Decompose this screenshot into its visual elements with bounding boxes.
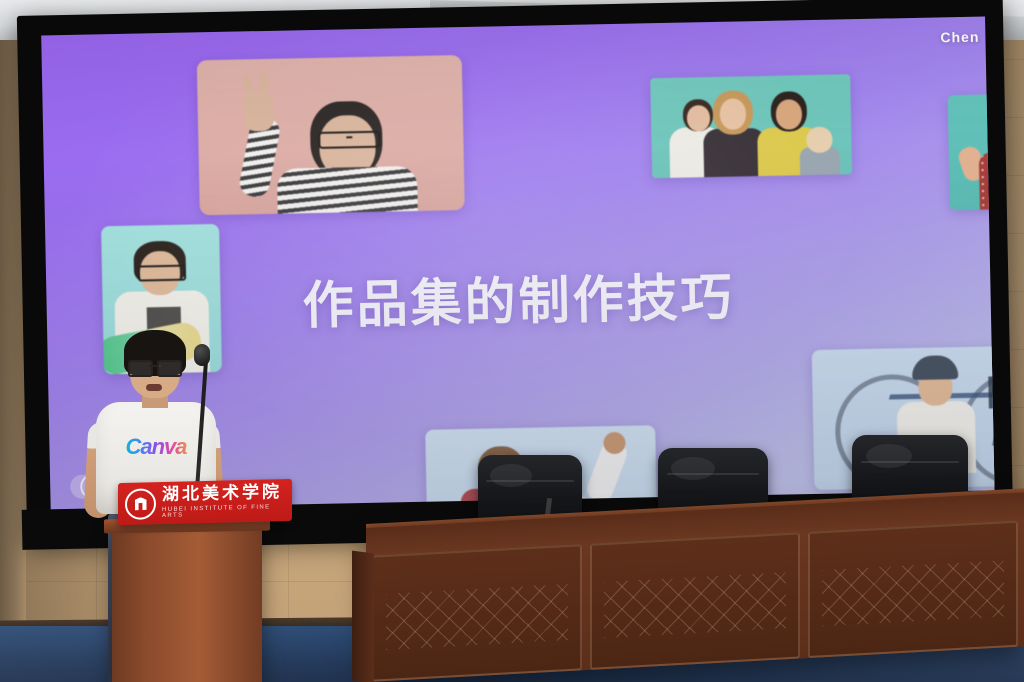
microphone-icon	[194, 344, 210, 366]
presenter-mouth	[146, 384, 162, 391]
podium-sign-chinese: 湖北美术学院	[162, 484, 285, 504]
glasses-icon	[128, 360, 182, 373]
table-panel	[808, 521, 1018, 658]
table-left-side	[352, 551, 374, 682]
table-panel	[372, 544, 582, 681]
institute-seal-icon	[125, 488, 156, 520]
podium-sign-english: HUBEI INSTITUTE OF FINE ARTS	[162, 504, 285, 519]
podium-name-sign: 湖北美术学院 HUBEI INSTITUTE OF FINE ARTS	[118, 479, 292, 525]
canva-logo: Canva	[120, 434, 192, 460]
slide-photo-woman-red-top	[948, 93, 995, 210]
table-panel	[590, 532, 800, 669]
lecture-hall-photo: 作品集的制作技巧 Chen ← Canva	[0, 0, 1024, 682]
slide-corner-label: Chen	[940, 29, 979, 46]
slide-photo-peace-sign-person	[197, 55, 465, 215]
podium: 1920	[112, 523, 262, 682]
slide-photo-family-portrait	[650, 74, 852, 178]
